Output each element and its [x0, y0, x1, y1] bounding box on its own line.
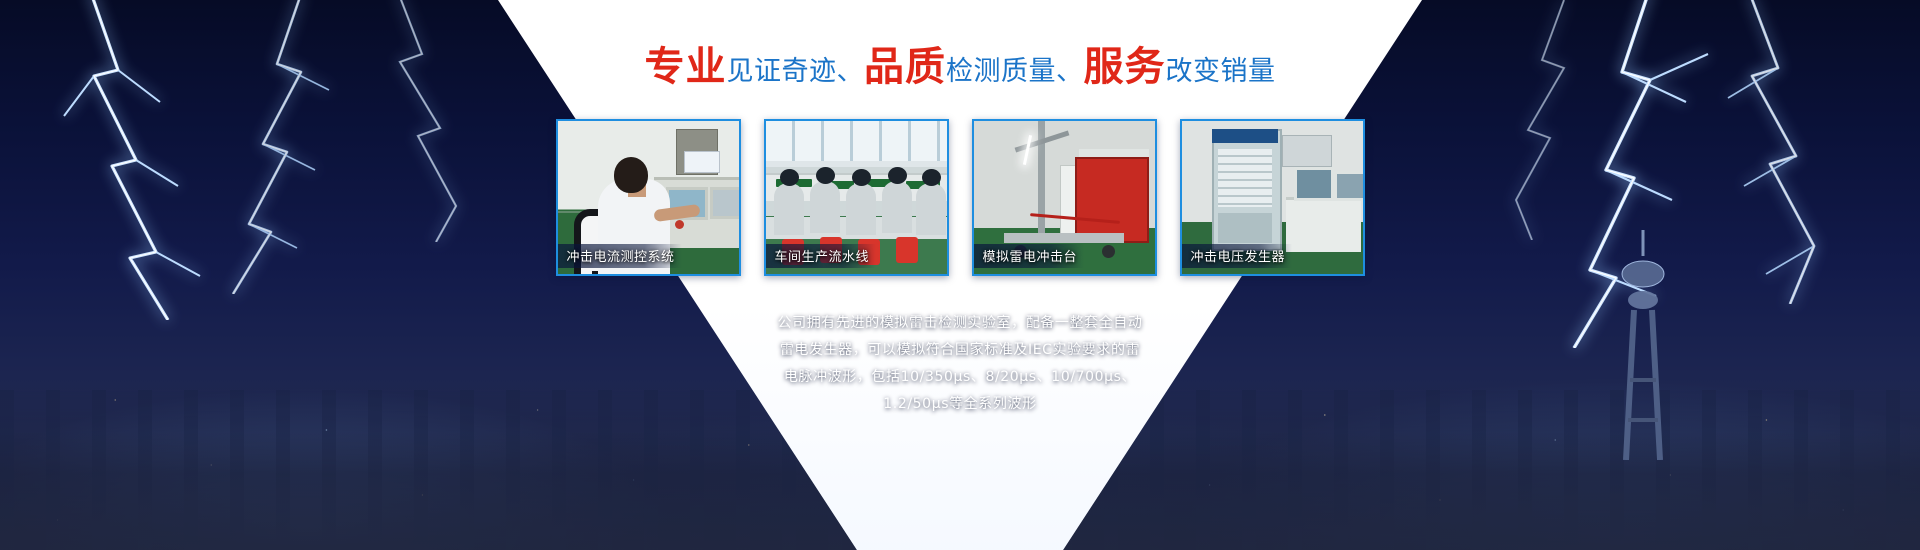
- photo-card-impulse-current-system[interactable]: 冲击电流测控系统: [556, 119, 741, 276]
- paragraph-line: 公司拥有先进的模拟雷击检测实验室，配备一整套全自动: [0, 310, 1920, 337]
- headline-segment-3: 品质: [864, 44, 946, 90]
- headline-segment-5: 服务: [1084, 44, 1166, 90]
- photo-card-list: 冲击电流测控系统: [0, 119, 1920, 276]
- photo-card-impulse-voltage-generator[interactable]: 冲击电压发生器: [1180, 119, 1365, 276]
- paragraph-line: 电脉冲波形，包括10/350μs、8/20μs、10/700μs、: [0, 364, 1920, 391]
- headline-segment-2: 见证奇迹、: [727, 56, 865, 87]
- photo-card-caption: 车间生产流水线: [766, 244, 877, 268]
- headline-segment-1: 专业: [645, 44, 727, 90]
- photo-card-caption: 冲击电压发生器: [1182, 244, 1293, 268]
- photo-card-caption: 冲击电流测控系统: [558, 244, 682, 268]
- promo-banner: 专业见证奇迹、品质检测质量、服务改变销量 冲击电流测控系统: [0, 0, 1920, 550]
- photo-card-lightning-test-bench[interactable]: 模拟雷电冲击台: [972, 119, 1157, 276]
- headline-segment-4: 检测质量、: [946, 56, 1084, 87]
- photo-card-caption: 模拟雷电冲击台: [974, 244, 1085, 268]
- page-title: 专业见证奇迹、品质检测质量、服务改变销量: [0, 47, 1920, 87]
- photo-card-assembly-line[interactable]: 车间生产流水线: [764, 119, 949, 276]
- headline-segment-6: 改变销量: [1166, 56, 1276, 87]
- paragraph-line: 雷电发生器，可以模拟符合国家标准及IEC实验要求的雷: [0, 337, 1920, 364]
- paragraph-line: 1.2/50μs等全系列波形: [0, 391, 1920, 418]
- description-paragraph: 公司拥有先进的模拟雷击检测实验室，配备一整套全自动 雷电发生器，可以模拟符合国家…: [0, 310, 1920, 418]
